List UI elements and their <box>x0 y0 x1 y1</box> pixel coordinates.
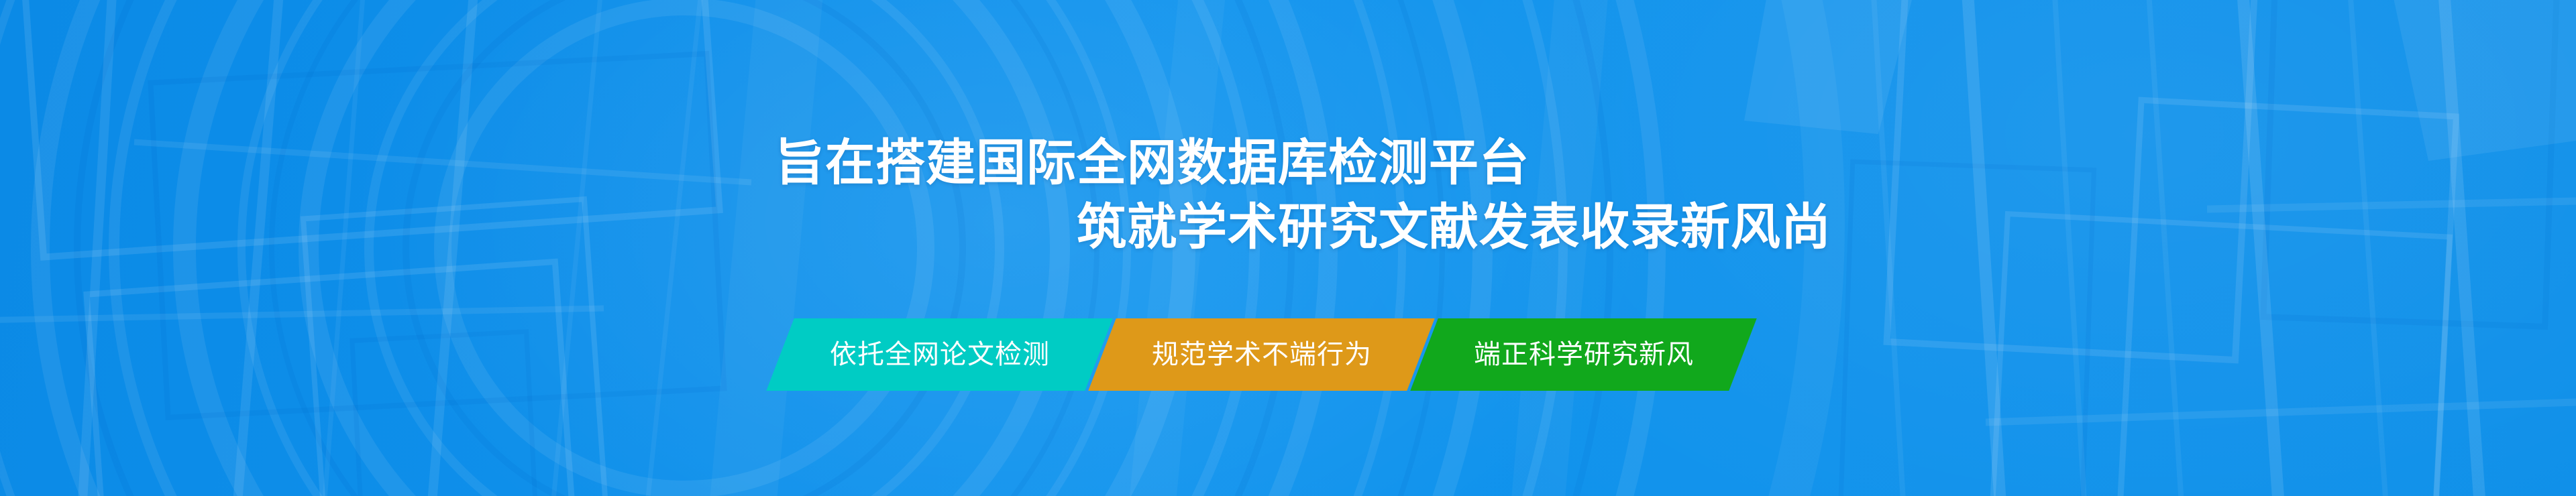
feature-tag-3-label: 端正科学研究新风 <box>1474 341 1694 368</box>
promo-banner: 旨在搭建国际全网数据库检测平台 筑就学术研究文献发表收录新风尚 依托全网论文检测… <box>0 0 2576 496</box>
feature-tag-2[interactable]: 规范学术不端行为 <box>1088 318 1434 391</box>
feature-tag-1[interactable]: 依托全网论文检测 <box>766 318 1112 391</box>
headline-line-2: 筑就学术研究文献发表收录新风尚 <box>1077 198 1831 256</box>
headline-line-1: 旨在搭建国际全网数据库检测平台 <box>775 134 1529 192</box>
feature-tag-1-label: 依托全网论文检测 <box>830 341 1050 368</box>
feature-tag-strip: 依托全网论文检测 规范学术不端行为 端正科学研究新风 <box>780 318 1743 391</box>
feature-tag-2-label: 规范学术不端行为 <box>1152 341 1372 368</box>
feature-tag-3[interactable]: 端正科学研究新风 <box>1410 318 1756 391</box>
